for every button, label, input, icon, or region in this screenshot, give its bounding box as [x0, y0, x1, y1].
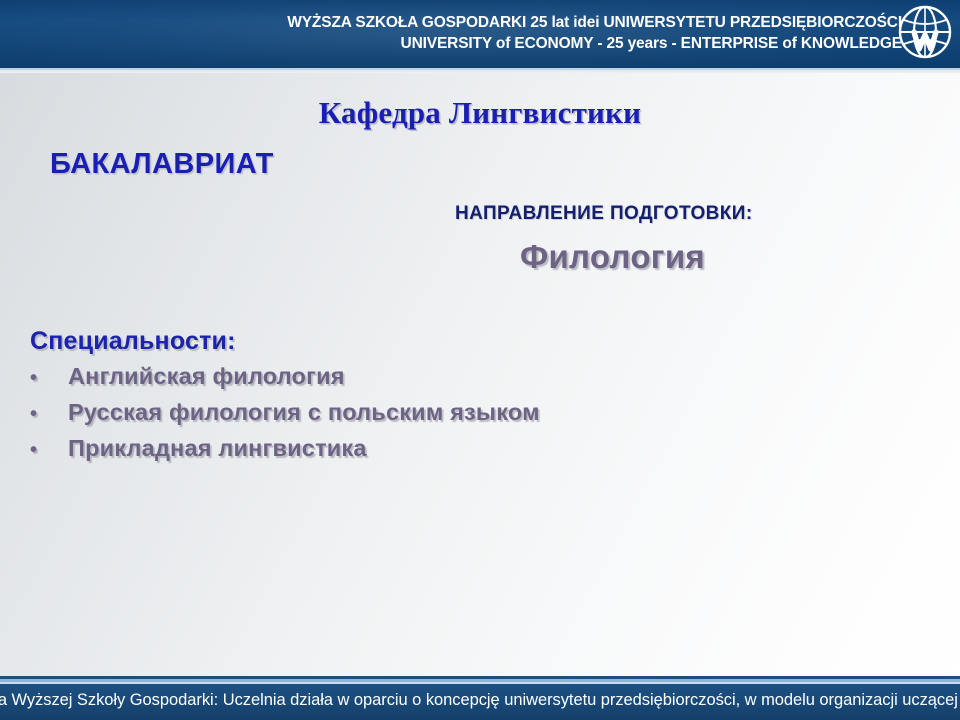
direction-label: НАПРАВЛЕНИЕ ПОДГОТОВКИ: [455, 203, 753, 225]
list-item-label: Русская филология с польским языком [68, 399, 540, 426]
presentation-slide: WYŻSZA SZKOŁA GOSPODARKI 25 lat idei UNI… [0, 0, 960, 720]
bullet-icon: • [30, 367, 68, 390]
direction-value: Филология [520, 238, 705, 276]
banner-title-block: WYŻSZA SZKOŁA GOSPODARKI 25 lat idei UNI… [112, 12, 902, 54]
banner-title-english: UNIVERSITY of ECONOMY - 25 years - ENTER… [112, 33, 902, 54]
footer-text: sja Wyższej Szkoły Gospodarki: Uczelnia … [0, 691, 960, 710]
bullet-icon: • [30, 403, 68, 426]
bullet-icon: • [30, 439, 68, 462]
list-item: • Русская филология с польским языком [30, 399, 540, 435]
list-item: • Прикладная лингвистика [30, 435, 540, 471]
list-item-label: Прикладная лингвистика [68, 435, 367, 462]
specialties-label: Специальности: [30, 327, 236, 356]
list-item: • Английская филология [30, 363, 540, 399]
department-title: Кафедра Лингвистики [0, 95, 960, 131]
degree-level-heading: БАКАЛАВРИАТ [50, 148, 274, 181]
list-item-label: Английская филология [68, 363, 345, 390]
specialties-list: • Английская филология • Русская филолог… [30, 363, 540, 471]
footer-bar: sja Wyższej Szkoły Gospodarki: Uczelnia … [0, 684, 960, 720]
header-banner: WYŻSZA SZKOŁA GOSPODARKI 25 lat idei UNI… [0, 0, 960, 68]
globe-w-logo-icon [894, 2, 956, 64]
banner-underline-fade [0, 70, 960, 73]
banner-title-polish: WYŻSZA SZKOŁA GOSPODARKI 25 lat idei UNI… [112, 12, 902, 33]
